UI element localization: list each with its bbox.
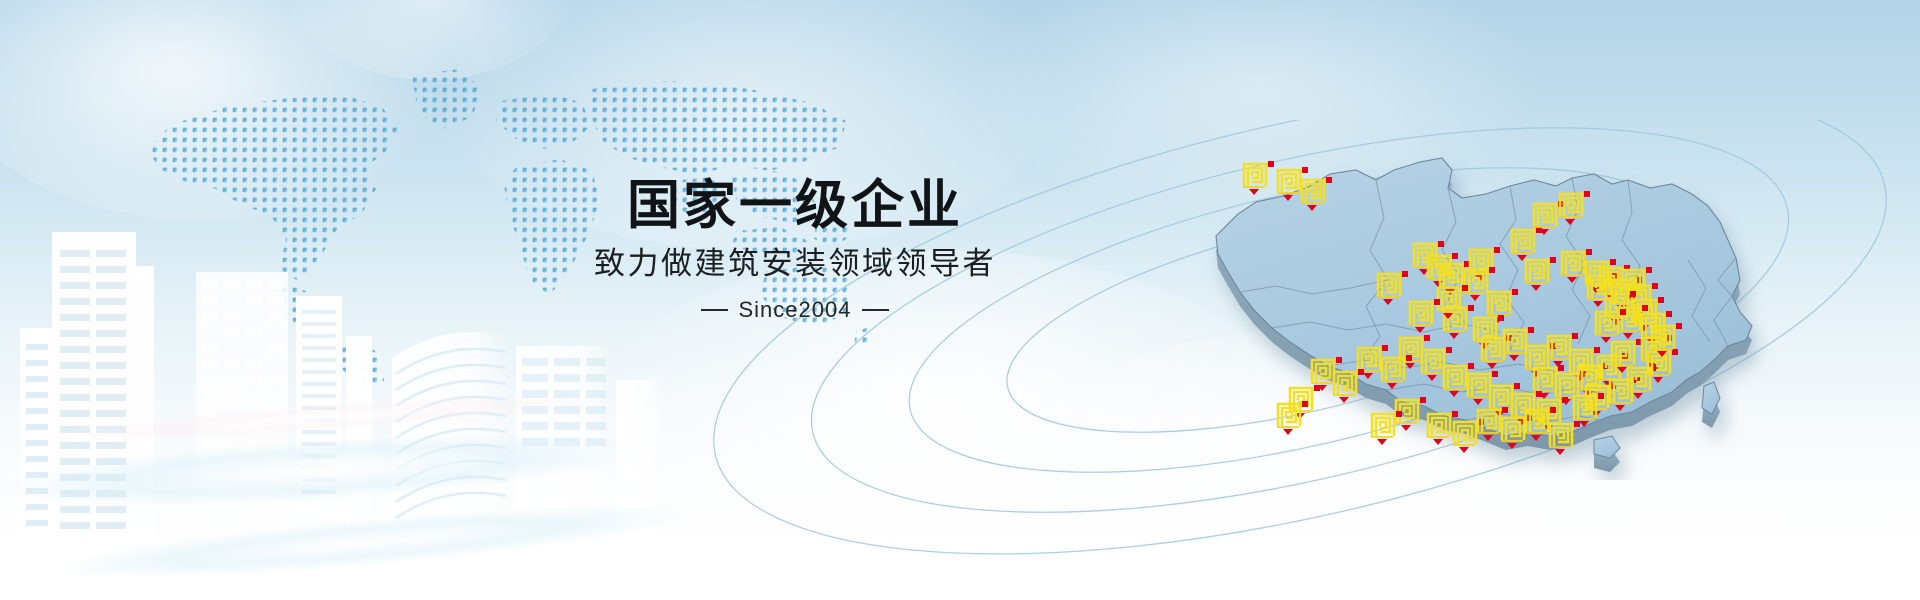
light-streak bbox=[0, 421, 641, 520]
city-skyline-icon bbox=[0, 90, 700, 600]
red-triangle-pin-icon bbox=[1565, 219, 1575, 225]
marker-bar-icon bbox=[1573, 418, 1595, 420]
red-dot-icon bbox=[1676, 323, 1682, 329]
map-marker[interactable] bbox=[1650, 324, 1684, 364]
red-dot-icon bbox=[1452, 253, 1458, 259]
marker-bar-icon bbox=[1477, 432, 1499, 434]
map-marker[interactable] bbox=[1300, 178, 1334, 218]
red-dot-icon bbox=[1658, 297, 1664, 303]
marker-bar-icon bbox=[1427, 436, 1449, 438]
red-dot-icon bbox=[1326, 177, 1332, 183]
red-triangle-pin-icon bbox=[1449, 333, 1459, 339]
spiral-logo-icon bbox=[1376, 272, 1402, 298]
red-triangle-pin-icon bbox=[1377, 439, 1387, 445]
spiral-logo-icon bbox=[1572, 394, 1598, 420]
red-dot-icon bbox=[1302, 401, 1308, 407]
marker-bar-icon bbox=[1651, 348, 1673, 350]
red-triangle-pin-icon bbox=[1653, 377, 1663, 383]
hero-banner: 国家一级企业 致力做建筑安装领域领导者 Since2004 bbox=[0, 0, 1920, 600]
red-dot-icon bbox=[1646, 267, 1652, 273]
map-marker[interactable] bbox=[1572, 394, 1606, 434]
marker-bar-icon bbox=[1277, 426, 1299, 428]
red-dot-icon bbox=[1358, 369, 1364, 375]
spiral-logo-icon bbox=[1476, 408, 1502, 434]
red-dot-icon bbox=[1402, 271, 1408, 277]
red-dot-icon bbox=[1562, 397, 1568, 403]
spiral-logo-icon bbox=[1452, 420, 1478, 446]
light-streak bbox=[40, 385, 600, 450]
red-triangle-pin-icon bbox=[1539, 229, 1549, 235]
map-marker[interactable] bbox=[1408, 300, 1442, 340]
red-dot-icon bbox=[1468, 363, 1474, 369]
red-dot-icon bbox=[1610, 259, 1616, 265]
marker-bar-icon bbox=[1311, 382, 1333, 384]
marker-bar-icon bbox=[1547, 358, 1569, 360]
light-streak bbox=[59, 493, 680, 591]
red-triangle-pin-icon bbox=[1567, 277, 1577, 283]
red-dot-icon bbox=[1452, 411, 1458, 417]
spiral-logo-icon bbox=[1560, 250, 1586, 276]
red-dot-icon bbox=[1492, 371, 1498, 377]
spiral-logo-icon bbox=[1486, 290, 1512, 316]
since-line: Since2004 bbox=[560, 297, 1030, 323]
red-dot-icon bbox=[1586, 249, 1592, 255]
red-dot-icon bbox=[1598, 393, 1604, 399]
red-dot-icon bbox=[1514, 383, 1520, 389]
marker-bar-icon bbox=[1501, 440, 1523, 442]
red-dot-icon bbox=[1498, 315, 1504, 321]
china-map-container bbox=[1180, 140, 1780, 480]
marker-bar-icon bbox=[1511, 252, 1533, 254]
spiral-logo-icon bbox=[1594, 310, 1620, 336]
red-dot-icon bbox=[1302, 167, 1308, 173]
red-triangle-pin-icon bbox=[1657, 351, 1667, 357]
map-marker[interactable] bbox=[1376, 272, 1410, 312]
red-triangle-pin-icon bbox=[1449, 391, 1459, 397]
map-marker[interactable] bbox=[1276, 402, 1310, 442]
marker-bar-icon bbox=[1453, 444, 1475, 446]
marker-bar-icon bbox=[1559, 216, 1581, 218]
red-triangle-pin-icon bbox=[1483, 435, 1493, 441]
red-triangle-pin-icon bbox=[1509, 355, 1519, 361]
spiral-logo-icon bbox=[1426, 412, 1452, 438]
red-dot-icon bbox=[1594, 347, 1600, 353]
spiral-logo-icon bbox=[1370, 412, 1396, 438]
spiral-logo-icon bbox=[1610, 340, 1636, 366]
spiral-logo-icon bbox=[1242, 162, 1268, 188]
marker-bar-icon bbox=[1301, 202, 1323, 204]
spiral-logo-icon bbox=[1310, 358, 1336, 384]
cloud-haze bbox=[0, 0, 460, 220]
marker-bar-icon bbox=[1549, 446, 1571, 448]
red-dot-icon bbox=[1558, 365, 1564, 371]
red-triangle-pin-icon bbox=[1633, 393, 1643, 399]
red-triangle-pin-icon bbox=[1507, 443, 1517, 449]
spiral-logo-icon bbox=[1558, 192, 1584, 218]
red-dot-icon bbox=[1666, 311, 1672, 317]
red-dot-icon bbox=[1584, 191, 1590, 197]
red-triangle-pin-icon bbox=[1470, 295, 1480, 301]
since-text: Since2004 bbox=[739, 297, 852, 323]
red-dot-icon bbox=[1620, 309, 1626, 315]
red-dot-icon bbox=[1494, 247, 1500, 253]
marker-bar-icon bbox=[1647, 374, 1669, 376]
red-triangle-pin-icon bbox=[1531, 435, 1541, 441]
red-triangle-pin-icon bbox=[1459, 447, 1469, 453]
red-dot-icon bbox=[1572, 333, 1578, 339]
red-dot-icon bbox=[1462, 285, 1468, 291]
red-dot-icon bbox=[1382, 345, 1388, 351]
red-dot-icon bbox=[1336, 357, 1342, 363]
red-dot-icon bbox=[1652, 283, 1658, 289]
spiral-logo-icon bbox=[1438, 262, 1464, 288]
red-dot-icon bbox=[1630, 291, 1636, 297]
red-dot-icon bbox=[1528, 327, 1534, 333]
marker-bar-icon bbox=[1627, 390, 1649, 392]
red-dot-icon bbox=[1536, 391, 1542, 397]
spiral-logo-icon bbox=[1276, 168, 1302, 194]
spiral-logo-icon bbox=[1524, 408, 1550, 434]
banner-text-block: 国家一级企业 致力做建筑安装领域领导者 Since2004 bbox=[560, 178, 1030, 323]
red-dot-icon bbox=[1268, 161, 1274, 167]
map-marker[interactable] bbox=[1370, 412, 1404, 452]
red-dot-icon bbox=[1550, 257, 1556, 263]
map-marker[interactable] bbox=[1558, 192, 1592, 232]
spiral-logo-icon bbox=[1276, 402, 1302, 428]
red-dot-icon bbox=[1314, 385, 1320, 391]
red-dot-icon bbox=[1434, 299, 1440, 305]
red-triangle-pin-icon bbox=[1443, 313, 1453, 319]
marker-bar-icon bbox=[1243, 186, 1265, 188]
red-dot-icon bbox=[1642, 305, 1648, 311]
marker-bar-icon bbox=[1377, 296, 1399, 298]
red-triangle-pin-icon bbox=[1383, 299, 1393, 305]
marker-bar-icon bbox=[1503, 352, 1525, 354]
map-marker[interactable] bbox=[1524, 258, 1558, 298]
spiral-logo-icon bbox=[1524, 258, 1550, 284]
red-triangle-pin-icon bbox=[1415, 327, 1425, 333]
since-rule-right bbox=[862, 309, 889, 311]
marker-bar-icon bbox=[1409, 324, 1431, 326]
red-triangle-pin-icon bbox=[1283, 195, 1293, 201]
marker-bar-icon bbox=[1443, 388, 1465, 390]
marker-bar-icon bbox=[1533, 226, 1555, 228]
marker-bar-icon bbox=[1443, 330, 1465, 332]
marker-bar-icon bbox=[1371, 436, 1393, 438]
marker-bar-icon bbox=[1277, 192, 1299, 194]
cloud-haze bbox=[280, 0, 580, 80]
red-triangle-pin-icon bbox=[1487, 363, 1497, 369]
red-dot-icon bbox=[1489, 267, 1495, 273]
red-triangle-pin-icon bbox=[1283, 429, 1293, 435]
red-dot-icon bbox=[1438, 241, 1444, 247]
red-dot-icon bbox=[1502, 407, 1508, 413]
red-triangle-pin-icon bbox=[1433, 439, 1443, 445]
red-dot-icon bbox=[1396, 411, 1402, 417]
spiral-logo-icon bbox=[1300, 178, 1326, 204]
red-dot-icon bbox=[1406, 355, 1412, 361]
red-dot-icon bbox=[1512, 289, 1518, 295]
spiral-logo-icon bbox=[1650, 324, 1676, 350]
marker-bar-icon bbox=[1525, 432, 1547, 434]
page-subtitle: 致力做建筑安装领域领导者 bbox=[560, 247, 1030, 281]
red-triangle-pin-icon bbox=[1579, 421, 1589, 427]
map-marker[interactable] bbox=[1242, 162, 1276, 202]
red-triangle-pin-icon bbox=[1307, 205, 1317, 211]
red-triangle-pin-icon bbox=[1615, 405, 1625, 411]
spiral-logo-icon bbox=[1532, 202, 1558, 228]
page-title: 国家一级企业 bbox=[560, 178, 1030, 234]
red-dot-icon bbox=[1420, 397, 1426, 403]
since-rule-left bbox=[701, 309, 728, 311]
red-triangle-pin-icon bbox=[1555, 449, 1565, 455]
spiral-logo-icon bbox=[1408, 300, 1434, 326]
red-triangle-pin-icon bbox=[1249, 189, 1259, 195]
marker-bar-icon bbox=[1481, 360, 1503, 362]
red-dot-icon bbox=[1446, 347, 1452, 353]
marker-bar-icon bbox=[1595, 334, 1617, 336]
map-markers-layer bbox=[1180, 140, 1780, 480]
marker-bar-icon bbox=[1561, 274, 1583, 276]
spiral-logo-icon bbox=[1548, 422, 1574, 448]
spiral-logo-icon bbox=[1500, 416, 1526, 442]
marker-bar-icon bbox=[1525, 282, 1547, 284]
red-triangle-pin-icon bbox=[1531, 285, 1541, 291]
red-dot-icon bbox=[1550, 407, 1556, 413]
